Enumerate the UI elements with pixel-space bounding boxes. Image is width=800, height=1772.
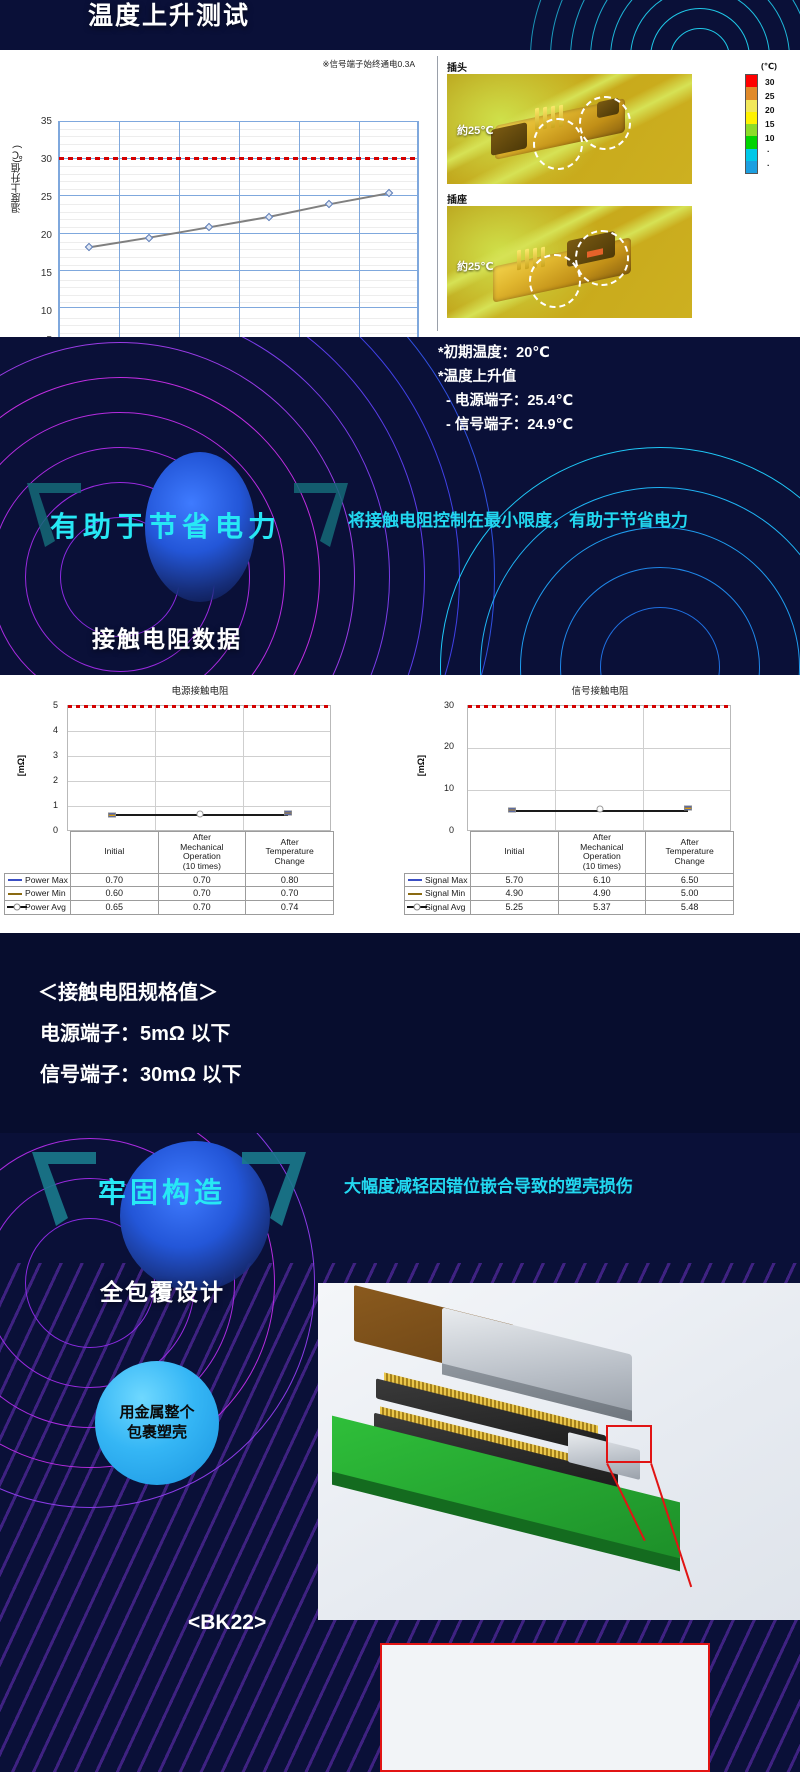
scale-label: ·	[767, 146, 770, 156]
temp-note-1: *温度上升值	[438, 367, 516, 388]
part-number-label: <BK22>	[188, 1611, 266, 1635]
header-after-mechanical: After Mechanical Operation (10 times)	[558, 832, 646, 874]
cell: 0.70	[70, 873, 158, 887]
cell: 0.60	[70, 887, 158, 901]
cell: 0.80	[246, 873, 334, 887]
detail-zoom-strip	[380, 1643, 710, 1772]
thermal-image-plug: 約25℃	[447, 74, 692, 184]
cell: 4.90	[470, 887, 558, 901]
scale-label: 20	[765, 105, 774, 115]
y-axis-label: 温度上升值(℃)	[10, 145, 25, 213]
scale-label: 15	[765, 119, 774, 129]
full-cover-subheading: 全包覆设计	[100, 1273, 225, 1307]
legend-line-marker-icon	[7, 903, 23, 913]
header-after-temperature: After Temperature Change	[246, 832, 334, 874]
legend-dash-icon	[7, 889, 23, 899]
temp-note-0: *初期温度：20℃	[438, 343, 550, 364]
cell: 0.74	[246, 901, 334, 915]
chart-title: 信号接触电阻	[404, 683, 796, 697]
hdr-line: Change	[648, 857, 731, 867]
temperature-test-panel: ※信号端子始终通电0.3A 温度上升值(℃) 35 30 25 20 15 10…	[0, 50, 800, 337]
legend-signal-min: Signal Min	[405, 887, 471, 901]
cell: 0.65	[70, 901, 158, 915]
data-marker	[508, 808, 516, 813]
metal-wrap-badge-text: 用金属整个 包裹塑壳	[119, 1403, 194, 1443]
legend-line-marker-icon	[407, 903, 423, 913]
cell: 0.70	[158, 887, 246, 901]
highlight-circle	[533, 118, 583, 170]
power-saving-badge: 有助于节省电力	[50, 505, 281, 545]
plot-area	[67, 705, 331, 831]
scale-label: 10	[765, 133, 774, 143]
data-marker	[284, 811, 292, 816]
hdr-line: (10 times)	[161, 862, 244, 872]
y-tick: 4	[32, 725, 58, 735]
rigid-construction-band: 牢固构造 大幅度减轻因错位嵌合导致的塑壳损伤 全包覆设计 用金属整个 包裹塑壳	[0, 1133, 800, 1772]
legend-label: Signal Max	[425, 875, 468, 885]
header-band: 温度上升测试	[0, 0, 800, 50]
chevron-left-decoration	[30, 1148, 100, 1230]
spec-title: ＜接触电阻规格值＞	[38, 976, 218, 1005]
y-axis-label: [mΩ]	[16, 755, 26, 776]
legend-power-avg: Power Avg	[5, 901, 71, 915]
cell: 5.00	[646, 887, 734, 901]
y-tick: 10	[428, 783, 454, 793]
highlight-circle	[529, 254, 581, 308]
rigid-badge: 牢固构造	[98, 1171, 226, 1211]
panel-divider	[437, 56, 438, 331]
y-tick: 10	[30, 306, 52, 317]
infographic-page: 温度上升测试 ※信号端子始终通电0.3A 温度上升值(℃) 35 30 25 2…	[0, 0, 800, 1772]
table-header-row: Initial After Mechanical Operation (10 t…	[405, 832, 734, 874]
legend-dash-icon	[407, 875, 423, 885]
cell: 5.25	[470, 901, 558, 915]
table-row: Power Avg 0.65 0.70 0.74	[5, 901, 334, 915]
metal-wrap-badge: 用金属整个 包裹塑壳	[95, 1361, 219, 1485]
y-tick: 3	[32, 750, 58, 760]
table-row: Power Min 0.60 0.70 0.70	[5, 887, 334, 901]
series-polyline	[59, 121, 419, 344]
plot-area	[58, 121, 418, 344]
y-tick: 30	[428, 700, 454, 710]
scale-label: 30	[765, 77, 774, 87]
y-axis-label: [mΩ]	[416, 755, 426, 776]
spec-line-power: 电源端子：5mΩ 以下	[40, 1017, 231, 1046]
table-row: Signal Max 5.70 6.10 6.50	[405, 873, 734, 887]
cell: 0.70	[158, 873, 246, 887]
thermal-plug-caption: 插头	[447, 59, 467, 74]
thermal-color-scale	[745, 74, 758, 174]
legend-power-min: Power Min	[5, 887, 71, 901]
header-initial: Initial	[470, 832, 558, 874]
legend-dash-icon	[407, 889, 423, 899]
data-marker	[684, 806, 692, 811]
power-contact-resistance-chart: 电源接触电阻 [mΩ] 5 4 3 2 1 0	[4, 679, 396, 929]
chart-note: ※信号端子始终通电0.3A	[322, 58, 415, 70]
table-row: Signal Min 4.90 4.90 5.00	[405, 887, 734, 901]
limit-line-5m	[68, 705, 330, 708]
legend-label: Signal Min	[425, 888, 465, 898]
y-tick: 2	[32, 775, 58, 785]
rigid-description: 大幅度减轻因错位嵌合导致的塑壳损伤	[344, 1175, 714, 1198]
table-row: Signal Avg 5.25 5.37 5.48	[405, 901, 734, 915]
data-marker	[108, 813, 116, 818]
data-marker	[197, 811, 204, 818]
y-tick: 25	[30, 192, 52, 203]
legend-dash-icon	[7, 875, 23, 885]
power-saving-description: 将接触电阻控制在最小限度，有助于节省电力	[348, 509, 708, 532]
cell: 5.48	[646, 901, 734, 915]
legend-label: Signal Avg	[425, 902, 465, 912]
scale-label: ·	[767, 160, 770, 170]
detail-highlight-box	[606, 1425, 652, 1463]
thermal-socket-tag: 約25℃	[457, 258, 494, 274]
cell: 6.50	[646, 873, 734, 887]
spec-band: ＜接触电阻规格值＞ 电源端子：5mΩ 以下 信号端子：30mΩ 以下	[0, 933, 800, 1133]
scale-label: 25	[765, 91, 774, 101]
cell: 6.10	[558, 873, 646, 887]
plot-area	[467, 705, 731, 831]
power-saving-band: 有助于节省电力 将接触电阻控制在最小限度，有助于节省电力 *初期温度：20℃ *…	[0, 337, 800, 675]
legend-power-max: Power Max	[5, 873, 71, 887]
legend-label: Power Max	[25, 875, 68, 885]
temp-note-2: - 电源端子：25.4℃	[446, 391, 573, 412]
y-tick: 30	[30, 154, 52, 165]
thermal-socket-caption: 插座	[447, 191, 467, 206]
thermal-image-group: 插头 約25℃ 插座	[445, 50, 800, 337]
cell: 5.37	[558, 901, 646, 915]
signal-contact-resistance-chart: 信号接触电阻 [mΩ] 30 20 10 0 Initial	[404, 679, 796, 929]
legend-label: Power Min	[25, 888, 66, 898]
header-after-mechanical: After Mechanical Operation (10 times)	[158, 832, 246, 874]
cell: 5.70	[470, 873, 558, 887]
section-temp-heading: 温度上升测试	[88, 0, 250, 32]
hdr-line: Change	[248, 857, 331, 867]
header-initial: Initial	[70, 832, 158, 874]
legend-signal-max: Signal Max	[405, 873, 471, 887]
thermal-scale-unit: (℃)	[761, 61, 777, 72]
chevron-right-decoration	[290, 479, 350, 551]
product-render	[318, 1283, 800, 1620]
limit-line-30m	[468, 705, 730, 708]
thermal-image-socket: 約25℃	[447, 206, 692, 318]
resistance-charts-panel: 电源接触电阻 [mΩ] 5 4 3 2 1 0	[0, 675, 800, 933]
y-tick: 1	[32, 800, 58, 810]
table-row: Power Max 0.70 0.70 0.80	[5, 873, 334, 887]
cell: 0.70	[158, 901, 246, 915]
y-tick: 5	[32, 700, 58, 710]
legend-signal-avg: Signal Avg	[405, 901, 471, 915]
thermal-plug-tag: 約25℃	[457, 122, 494, 138]
header-after-temperature: After Temperature Change	[646, 832, 734, 874]
glow-orb	[120, 1141, 270, 1291]
power-resistance-table: Initial After Mechanical Operation (10 t…	[4, 831, 334, 915]
y-tick: 20	[30, 230, 52, 241]
legend-label: Power Avg	[25, 902, 66, 912]
contact-resistance-subheading: 接触电阻数据	[92, 620, 242, 654]
cell: 4.90	[558, 887, 646, 901]
y-tick: 35	[30, 116, 52, 127]
y-tick: 15	[30, 268, 52, 279]
table-header-row: Initial After Mechanical Operation (10 t…	[5, 832, 334, 874]
spec-line-signal: 信号端子：30mΩ 以下	[40, 1058, 242, 1087]
highlight-circle	[575, 230, 629, 286]
cell: 0.70	[246, 887, 334, 901]
highlight-circle	[579, 96, 631, 150]
chart-title: 电源接触电阻	[4, 683, 396, 697]
data-marker	[597, 806, 604, 813]
hdr-line: (10 times)	[561, 862, 644, 872]
temp-note-3: - 信号端子：24.9℃	[446, 415, 573, 436]
signal-resistance-table: Initial After Mechanical Operation (10 t…	[404, 831, 734, 915]
temperature-line-chart: ※信号端子始终通电0.3A 温度上升值(℃) 35 30 25 20 15 10…	[0, 50, 437, 337]
y-tick: 20	[428, 741, 454, 751]
